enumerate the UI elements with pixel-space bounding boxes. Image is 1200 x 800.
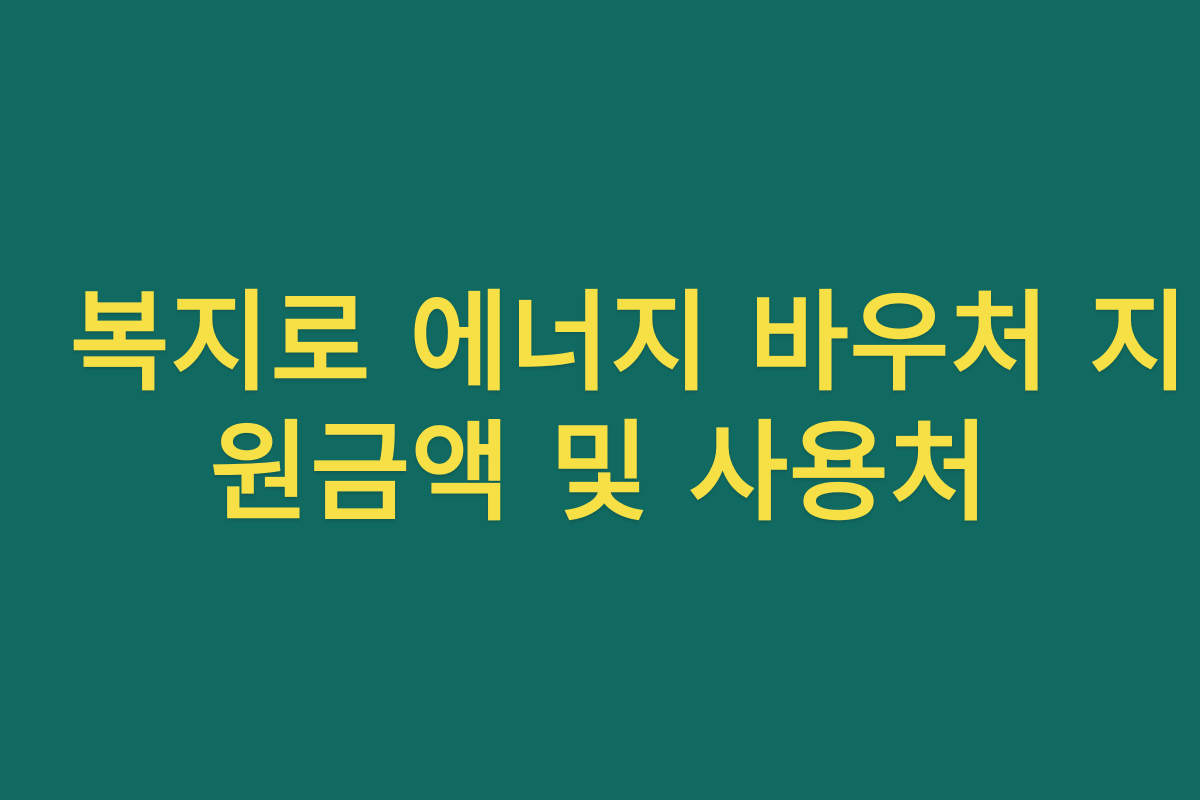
title-line-2: 원금액 및 사용처 [70, 409, 1130, 539]
poster-canvas: 복지로 에너지 바우처 지 원금액 및 사용처 [0, 0, 1200, 800]
title-block: 복지로 에너지 바우처 지 원금액 및 사용처 [70, 279, 1130, 539]
title-line-1: 복지로 에너지 바우처 지 [70, 279, 1130, 409]
